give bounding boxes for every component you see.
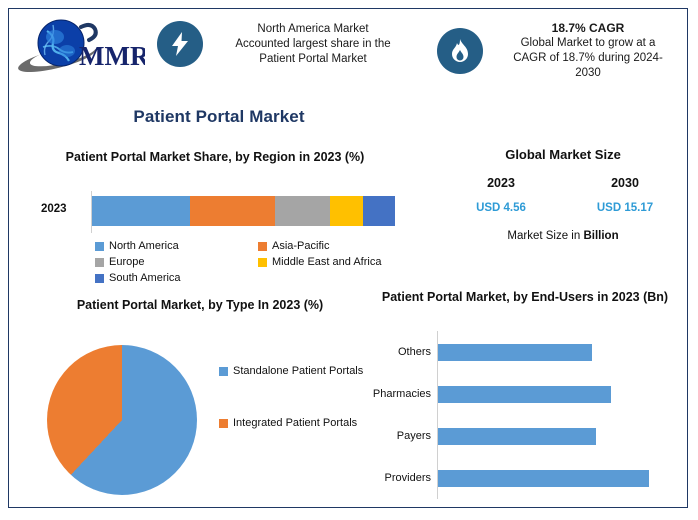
region-segment-asia-pacific bbox=[190, 196, 275, 226]
region-category-label: 2023 bbox=[41, 203, 67, 215]
legend-label: Middle East and Africa bbox=[272, 255, 381, 270]
legend-item-south-america: South America bbox=[95, 271, 258, 286]
region-segment-south-america bbox=[363, 196, 395, 226]
end-users-label: Pharmacies bbox=[361, 388, 437, 400]
market-size-year: 2030 bbox=[563, 176, 687, 190]
legend-swatch-icon bbox=[95, 258, 104, 267]
global-market-size-title: Global Market Size bbox=[439, 147, 687, 162]
end-users-label: Payers bbox=[361, 430, 437, 442]
end-users-bar bbox=[438, 344, 592, 361]
end-users-bar bbox=[438, 428, 596, 445]
end-users-row-providers: Providers bbox=[361, 457, 687, 499]
type-share-pie bbox=[47, 345, 197, 495]
legend-item-asia-pacific: Asia-Pacific bbox=[258, 239, 421, 254]
legend-swatch-icon bbox=[95, 242, 104, 251]
end-users-row-pharmacies: Pharmacies bbox=[361, 373, 687, 415]
global-market-size-row: 2023 USD 4.56 2030 USD 15.17 bbox=[439, 176, 687, 214]
region-stacked-bar bbox=[92, 196, 395, 226]
flame-icon bbox=[437, 28, 483, 74]
chart-end-users: Patient Portal Market, by End-Users in 2… bbox=[361, 289, 687, 505]
market-size-value: USD 4.56 bbox=[439, 202, 563, 214]
badge-line: Patient Portal Market bbox=[213, 52, 413, 67]
badge-line: 2030 bbox=[493, 66, 683, 81]
chart-end-users-title: Patient Portal Market, by End-Users in 2… bbox=[375, 289, 675, 305]
end-users-bar bbox=[438, 470, 649, 487]
cagr-headline: 18.7% CAGR bbox=[493, 21, 683, 36]
end-users-plot-area: Others Pharmacies Payers Providers bbox=[361, 331, 687, 499]
end-users-bar bbox=[438, 386, 611, 403]
chart-region-share: Patient Portal Market Share, by Region i… bbox=[21, 149, 421, 289]
end-users-row-others: Others bbox=[361, 331, 687, 373]
region-plot-area: 2023 bbox=[21, 191, 421, 233]
legend-item-north-america: North America bbox=[95, 239, 258, 254]
badge-north-america-text: North America Market Accounted largest s… bbox=[213, 22, 413, 67]
market-size-value: USD 15.17 bbox=[563, 202, 687, 214]
chart-region-share-title: Patient Portal Market Share, by Region i… bbox=[35, 149, 395, 165]
legend-swatch-icon bbox=[95, 274, 104, 283]
badge-line: Global Market to grow at a bbox=[493, 36, 683, 51]
region-segment-europe bbox=[275, 196, 330, 226]
badge-line: Accounted largest share in the bbox=[213, 37, 413, 52]
logo-svg: MMR bbox=[17, 13, 145, 79]
badge-north-america: North America Market Accounted largest s… bbox=[157, 21, 417, 67]
region-segment-mea bbox=[330, 196, 362, 226]
legend-swatch-icon bbox=[258, 242, 267, 251]
region-segment-north-america bbox=[92, 196, 190, 226]
lightning-bolt-icon bbox=[157, 21, 203, 67]
legend-swatch-icon bbox=[258, 258, 267, 267]
legend-swatch-icon bbox=[219, 367, 228, 376]
lightning-bolt-glyph bbox=[169, 31, 191, 57]
region-legend: North America Asia-Pacific Europe Middle… bbox=[95, 239, 421, 287]
header: MMR North America Market Accounted large… bbox=[9, 9, 687, 89]
badge-line: CAGR of 18.7% during 2024- bbox=[493, 51, 683, 66]
market-size-year: 2023 bbox=[439, 176, 563, 190]
page-title: Patient Portal Market bbox=[9, 107, 429, 127]
chart-type-share-title: Patient Portal Market, by Type In 2023 (… bbox=[45, 297, 355, 313]
end-users-label: Providers bbox=[361, 472, 437, 484]
end-users-row-payers: Payers bbox=[361, 415, 687, 457]
market-size-footnote: Market Size in Billion bbox=[439, 230, 687, 242]
market-size-col-2030: 2030 USD 15.17 bbox=[563, 176, 687, 214]
legend-label: South America bbox=[109, 271, 181, 286]
badge-cagr-text: 18.7% CAGR Global Market to grow at a CA… bbox=[493, 21, 683, 81]
legend-item-europe: Europe bbox=[95, 255, 258, 270]
mmr-globe-logo: MMR bbox=[17, 13, 145, 79]
logo-wordmark: MMR bbox=[79, 41, 145, 71]
legend-item-middle-east-and-africa: Middle East and Africa bbox=[258, 255, 421, 270]
legend-label: Standalone Patient Portals bbox=[233, 363, 363, 379]
market-size-footnote-prefix: Market Size in bbox=[507, 230, 583, 242]
flame-glyph bbox=[449, 38, 471, 64]
badge-line: North America Market bbox=[213, 22, 413, 37]
legend-swatch-icon bbox=[219, 419, 228, 428]
legend-label: North America bbox=[109, 239, 179, 254]
badge-cagr: 18.7% CAGR Global Market to grow at a CA… bbox=[437, 21, 687, 81]
legend-label: Asia-Pacific bbox=[272, 239, 329, 254]
infographic-container: MMR North America Market Accounted large… bbox=[8, 8, 688, 508]
market-size-footnote-unit: Billion bbox=[583, 230, 618, 242]
market-size-col-2023: 2023 USD 4.56 bbox=[439, 176, 563, 214]
end-users-label: Others bbox=[361, 346, 437, 358]
legend-label: Integrated Patient Portals bbox=[233, 415, 357, 431]
global-market-size: Global Market Size 2023 USD 4.56 2030 US… bbox=[439, 147, 687, 277]
legend-label: Europe bbox=[109, 255, 144, 270]
